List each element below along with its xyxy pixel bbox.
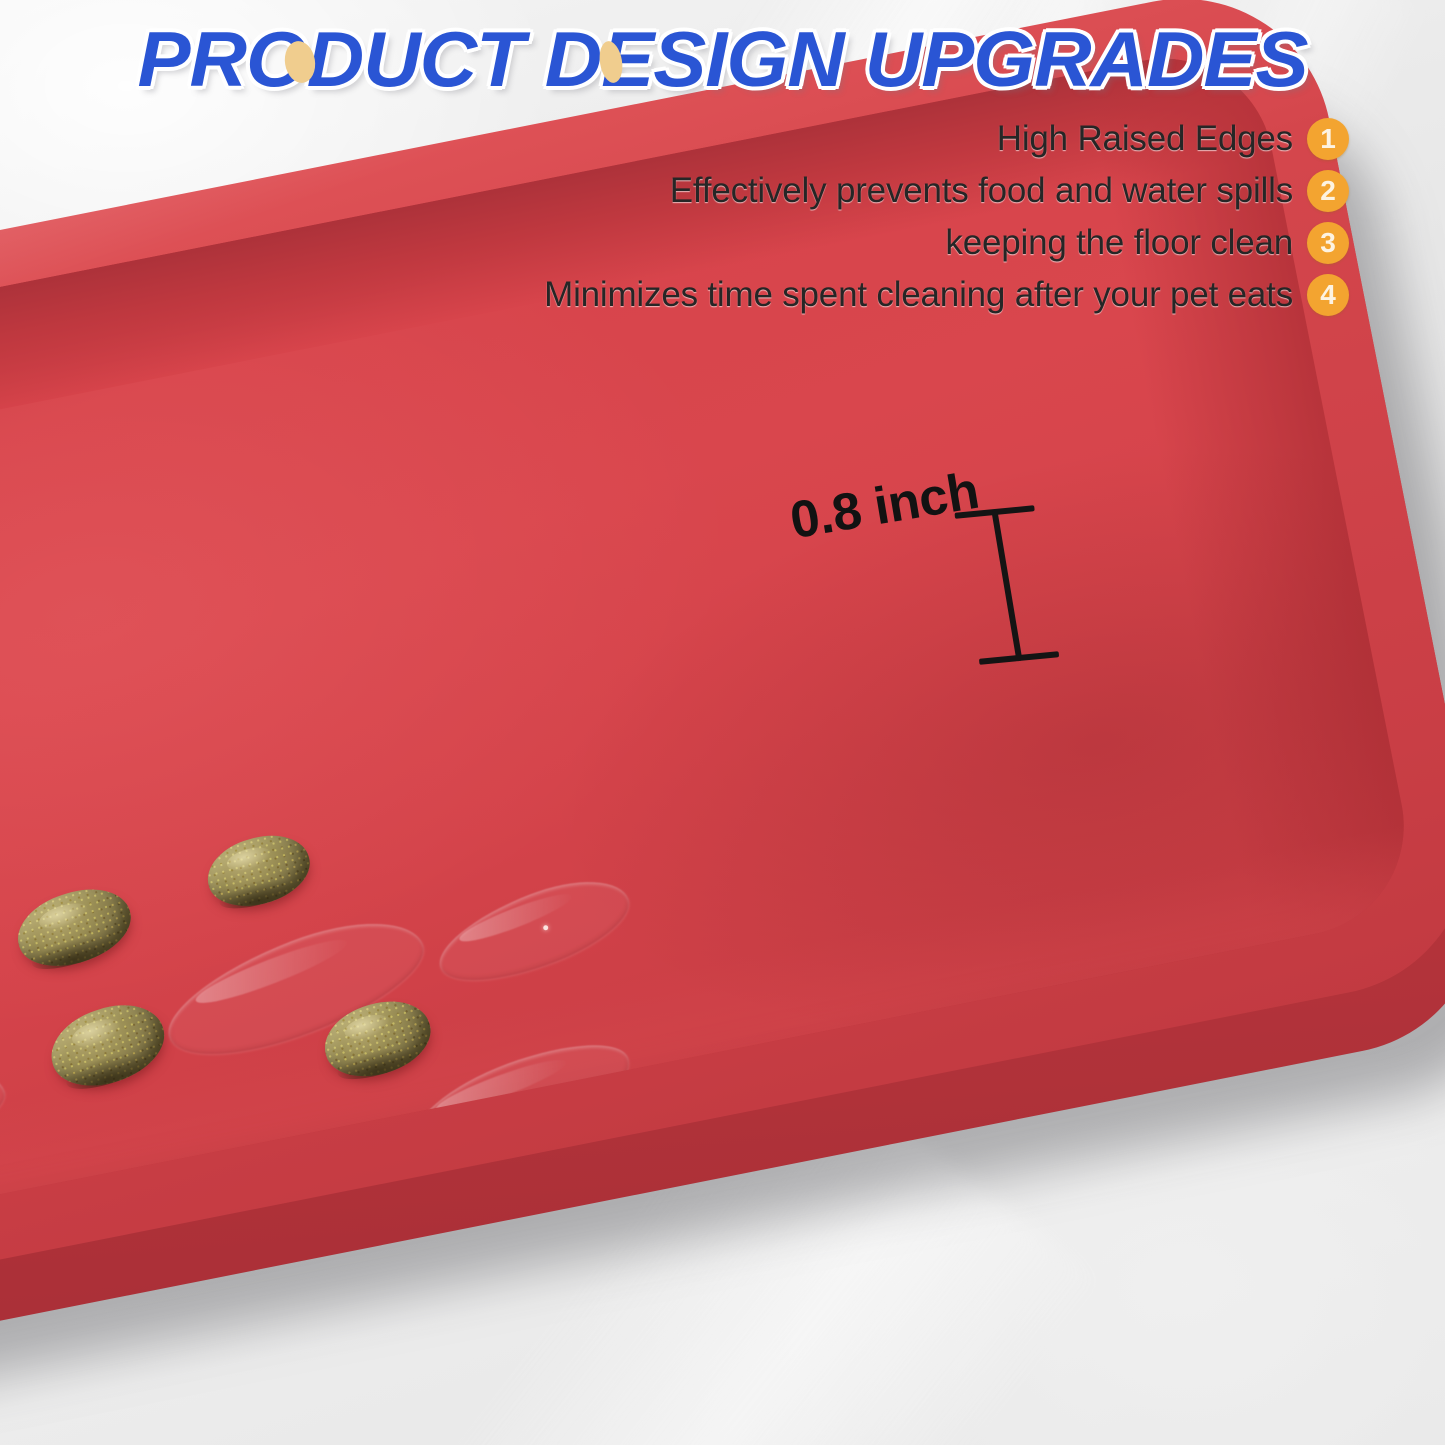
feature-list: High Raised Edges 1 Effectively prevents… bbox=[544, 118, 1349, 316]
feature-number-badge: 1 bbox=[1307, 118, 1349, 160]
feature-item-1: High Raised Edges 1 bbox=[997, 118, 1349, 160]
product-infographic: PRODUCT DESIGN UPGRADES High Raised Edge… bbox=[0, 0, 1445, 1445]
feature-label: Minimizes time spent cleaning after your… bbox=[544, 275, 1293, 315]
feature-number-badge: 2 bbox=[1307, 170, 1349, 212]
feature-number-badge: 3 bbox=[1307, 222, 1349, 264]
dimension-stem bbox=[991, 511, 1022, 662]
feature-label: High Raised Edges bbox=[997, 119, 1293, 159]
feature-item-3: keeping the floor clean 3 bbox=[945, 222, 1349, 264]
feature-number-badge: 4 bbox=[1307, 274, 1349, 316]
feature-label: keeping the floor clean bbox=[945, 223, 1293, 263]
feature-label: Effectively prevents food and water spil… bbox=[670, 171, 1293, 211]
feature-item-4: Minimizes time spent cleaning after your… bbox=[544, 274, 1349, 316]
page-title: PRODUCT DESIGN UPGRADES bbox=[0, 14, 1445, 105]
feature-item-2: Effectively prevents food and water spil… bbox=[670, 170, 1349, 212]
